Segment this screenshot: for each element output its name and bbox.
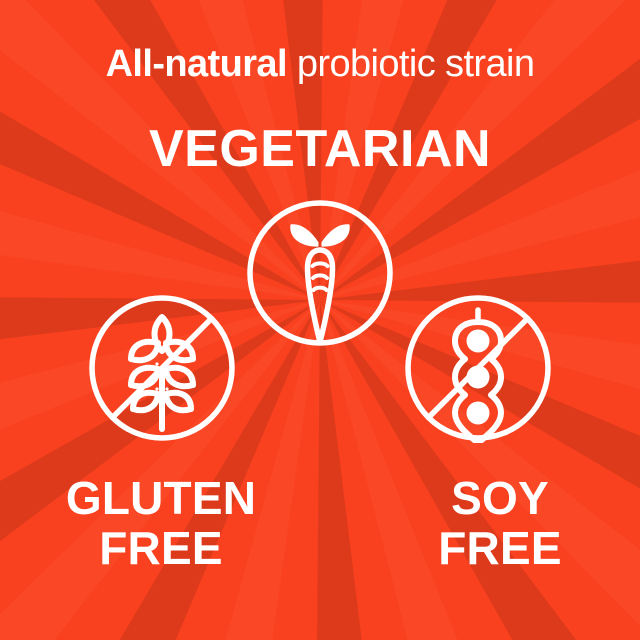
gluten-free-line-2: FREE <box>21 523 301 573</box>
badge-gluten-free <box>87 293 237 443</box>
product-claims-poster: All-natural probiotic strain VEGETARIAN <box>0 0 640 640</box>
gluten-free-line-1: GLUTEN <box>21 473 301 523</box>
wheat-no-icon <box>87 293 237 443</box>
gluten-free-label: GLUTEN FREE <box>21 473 301 573</box>
headline: All-natural probiotic strain <box>0 42 640 86</box>
soybean-no-icon <box>403 293 553 443</box>
badge-vegetarian <box>245 198 395 348</box>
carrot-icon <box>245 198 395 348</box>
soy-free-line-1: SOY <box>368 473 632 523</box>
headline-bold: All-natural <box>106 43 287 85</box>
badge-soy-free <box>403 293 553 443</box>
soy-free-label: SOY FREE <box>368 473 632 573</box>
vegetarian-title: VEGETARIAN <box>0 121 640 177</box>
headline-regular: probiotic strain <box>287 43 534 85</box>
soy-free-line-2: FREE <box>368 523 632 573</box>
